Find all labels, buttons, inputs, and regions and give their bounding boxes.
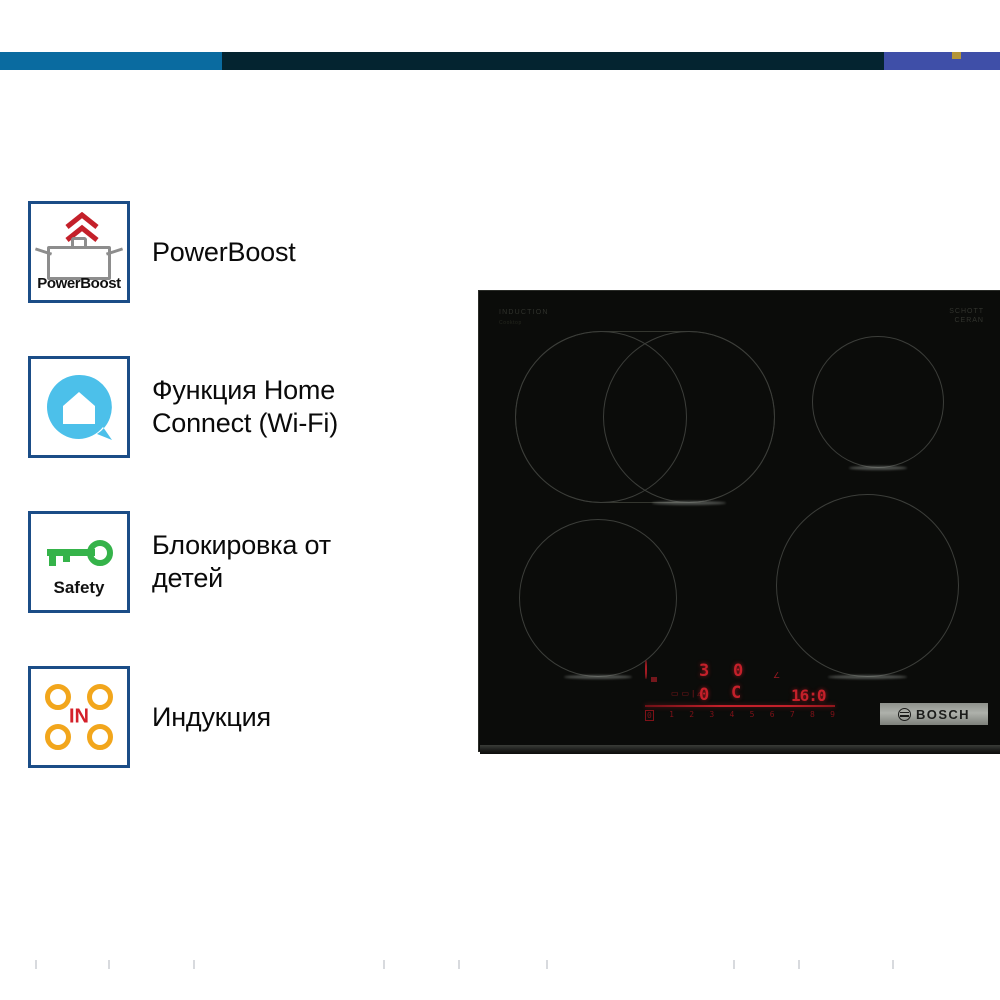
feature-item-child-lock: Safety Блокировка от детей: [28, 506, 458, 618]
hob-label-induction-sub: Cooktop: [499, 318, 549, 328]
powerboost-icon-caption: PowerBoost: [31, 275, 127, 292]
power-slider-scale: 0 1 2 3 4 5 6 7 8 9: [645, 710, 835, 721]
hob-label-induction: INDUCTION Cooktop: [499, 308, 549, 328]
feature-label-line: детей: [152, 562, 331, 595]
slide-canvas: PowerBoost PowerBoost Функция Home Conne…: [0, 0, 1000, 1000]
induction-icon: IN: [28, 666, 130, 768]
cooking-zone-flex-front[interactable]: [603, 331, 775, 503]
separator-dot: [733, 960, 735, 969]
zone-display-rear-right: 0: [733, 661, 743, 681]
control-panel[interactable]: ▭▭|▵ 3 0 0 C ∠ 16:0 0 1 2 3 4 5 6 7: [645, 661, 835, 723]
home-bubble-icon: [42, 370, 116, 444]
hob-label-induction-main: INDUCTION: [499, 308, 549, 318]
zone-display-rear-left: 3: [699, 661, 709, 681]
key-tooth-icon: [63, 549, 70, 562]
separator-dot: [35, 960, 37, 969]
slider-tick: 7: [790, 710, 795, 721]
powerboost-icon: PowerBoost: [28, 201, 130, 303]
key-ring-icon: [87, 540, 113, 566]
separator-dot: [193, 960, 195, 969]
safety-key-icon: Safety: [28, 511, 130, 613]
hob-glass-surface: INDUCTION Cooktop SCHOTT CERAN ▭▭|▵ 3 0 …: [478, 290, 1000, 752]
cooking-zone-left-front[interactable]: [519, 519, 677, 677]
feature-item-induction: IN Индукция: [28, 661, 458, 773]
safety-icon-caption: Safety: [31, 578, 127, 598]
hob-label-schott: SCHOTT: [949, 307, 984, 316]
separator-dot: [798, 960, 800, 969]
slider-tick: 9: [830, 710, 835, 721]
zone-display-front-left: 0: [699, 685, 709, 705]
feature-item-home-connect: Функция Home Connect (Wi-Fi): [28, 351, 458, 463]
timer-display: 16:0: [791, 686, 826, 705]
feature-label-child-lock: Блокировка от детей: [152, 529, 331, 595]
power-icon[interactable]: [651, 677, 657, 682]
cooking-zone-right-rear[interactable]: [812, 336, 944, 468]
clock-icon: [645, 660, 647, 679]
hob-label-ceran: SCHOTT CERAN: [949, 307, 984, 325]
feature-label-home-connect: Функция Home Connect (Wi-Fi): [152, 374, 338, 440]
bosch-logo-badge: BOSCH: [880, 703, 988, 725]
strip-segment-blue: [0, 52, 222, 70]
feature-label-line: Connect (Wi-Fi): [152, 407, 338, 440]
bosch-mark-icon: [898, 708, 911, 721]
feature-label-line: Функция Home: [152, 374, 338, 407]
separator-dot: [383, 960, 385, 969]
feature-item-powerboost: PowerBoost PowerBoost: [28, 196, 458, 308]
slider-tick: 6: [770, 710, 775, 721]
product-image-cooktop: INDUCTION Cooktop SCHOTT CERAN ▭▭|▵ 3 0 …: [478, 290, 1000, 760]
home-connect-icon: [28, 356, 130, 458]
separator-dot: [458, 960, 460, 969]
key-tooth-icon: [49, 549, 56, 566]
induction-icon-caption: IN: [31, 706, 127, 729]
slider-tick: 3: [709, 710, 714, 721]
cooking-zone-right-front[interactable]: [776, 494, 959, 677]
page-separator-dots: [0, 960, 1000, 972]
strip-segment-indigo: [884, 52, 1000, 70]
strip-segment-dark: [222, 52, 884, 70]
bosch-wordmark: BOSCH: [916, 707, 970, 722]
zone-display-front-right: C: [731, 683, 741, 703]
slider-tick: 1: [669, 710, 674, 721]
top-banner-strip: [0, 52, 1000, 70]
hob-label-ceran: CERAN: [949, 316, 984, 325]
slider-tick: 2: [689, 710, 694, 721]
separator-dot: [108, 960, 110, 969]
feature-label-line: Блокировка от: [152, 529, 331, 562]
separator-dot: [546, 960, 548, 969]
accent-dot-icon: [952, 52, 961, 59]
feature-label-line: PowerBoost: [152, 236, 296, 269]
power-slider[interactable]: [645, 705, 835, 707]
timer-icon: ∠: [773, 671, 780, 680]
slider-tick: 4: [730, 710, 735, 721]
slider-tick: 5: [750, 710, 755, 721]
hob-front-edge: [480, 745, 1000, 754]
feature-label-induction: Индукция: [152, 701, 271, 734]
slider-tick: 0: [645, 710, 654, 721]
feature-list: PowerBoost PowerBoost Функция Home Conne…: [28, 196, 458, 816]
slider-tick: 8: [810, 710, 815, 721]
feature-label-powerboost: PowerBoost: [152, 236, 296, 269]
separator-dot: [892, 960, 894, 969]
feature-label-line: Индукция: [152, 701, 271, 734]
